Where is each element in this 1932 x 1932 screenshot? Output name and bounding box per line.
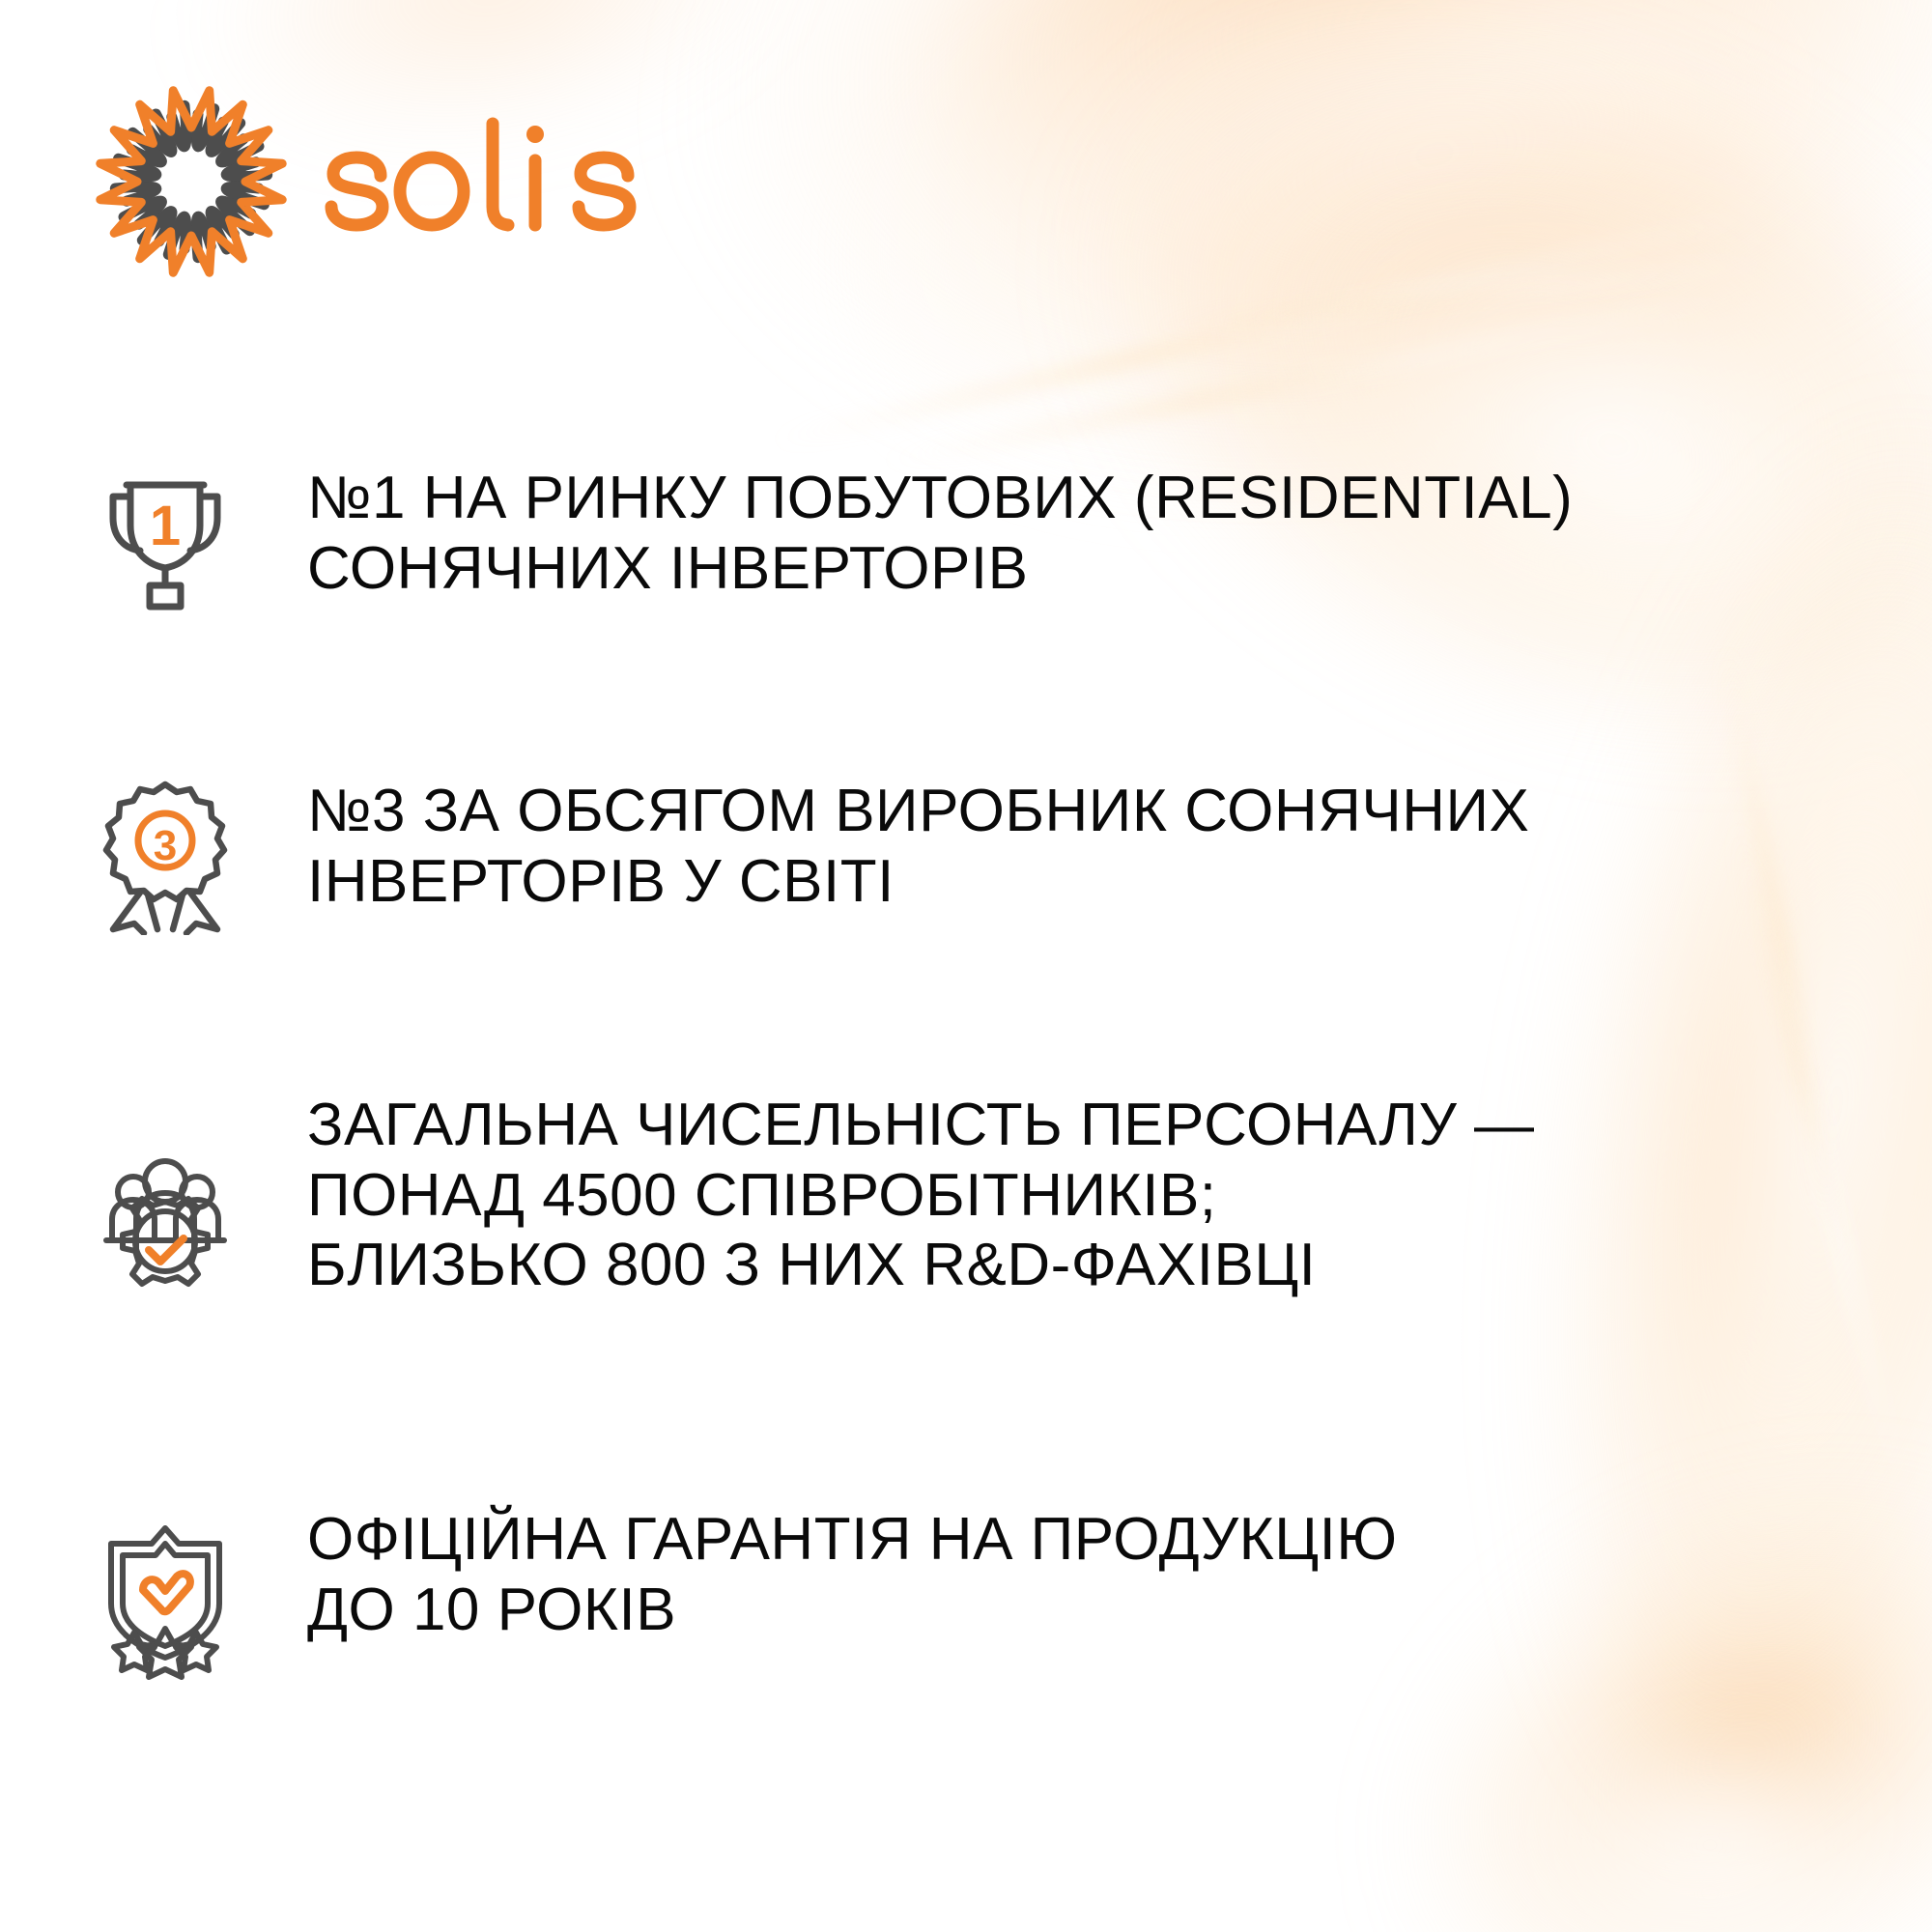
award-ribbon-icon: 3 [93,777,238,936]
brand-wordmark [321,112,639,257]
feature-item: 3 №3 ЗА ОБСЯГОМ ВИРОБНИК СОНЯЧНИХ ІНВЕРТ… [0,777,1932,936]
feature-text-line: ДО 10 РОКІВ [307,1576,1398,1646]
team-gear-icon [93,1147,238,1316]
feature-item: ЗАГАЛЬНА ЧИСЕЛЬНІСТЬ ПЕРСОНАЛУ — ПОНАД 4… [0,1091,1932,1316]
swirl-streak [766,199,1804,447]
feature-text: №1 НА РИНКУ ПОБУТОВИХ (RESIDENTIAL) СОНЯ… [307,464,1573,604]
sun-burst-logo-icon [85,75,298,288]
swirl-streak [1142,254,1815,331]
swirl-highlight [1507,1700,1913,1932]
slide-root: 1 №1 НА РИНКУ ПОБУТОВИХ (RESIDENTIAL) СО… [0,0,1932,1932]
feature-list: 1 №1 НА РИНКУ ПОБУТОВИХ (RESIDENTIAL) СО… [0,464,1932,1683]
feature-text-line: БЛИЗЬКО 800 З НИХ R&D-ФАХІВЦІ [307,1231,1535,1301]
brand-logo [85,75,639,288]
feature-text-line: ПОНАД 4500 СПІВРОБІТНИКІВ; [307,1161,1535,1232]
swirl-streak [877,284,1779,467]
feature-text-line: ЗАГАЛЬНА ЧИСЕЛЬНІСТЬ ПЕРСОНАЛУ — [307,1091,1535,1161]
feature-item: 1 №1 НА РИНКУ ПОБУТОВИХ (RESIDENTIAL) СО… [0,464,1932,614]
trophy-icon: 1 [93,469,238,614]
feature-text: ЗАГАЛЬНА ЧИСЕЛЬНІСТЬ ПЕРСОНАЛУ — ПОНАД 4… [307,1091,1535,1301]
feature-text-line: СОНЯЧНИХ ІНВЕРТОРІВ [307,534,1573,605]
feature-text: ОФІЦІЙНА ГАРАНТІЯ НА ПРОДУКЦІЮ ДО 10 РОК… [307,1505,1398,1645]
svg-text:1: 1 [150,495,181,557]
svg-text:3: 3 [154,822,177,869]
feature-text-line: №1 НА РИНКУ ПОБУТОВИХ (RESIDENTIAL) [307,464,1573,534]
feature-text-line: ІНВЕРТОРІВ У СВІТІ [307,847,1529,918]
shield-stars-icon [93,1519,238,1683]
feature-text: №3 ЗА ОБСЯГОМ ВИРОБНИК СОНЯЧНИХ ІНВЕРТОР… [307,777,1529,917]
feature-text-line: ОФІЦІЙНА ГАРАНТІЯ НА ПРОДУКЦІЮ [307,1505,1398,1576]
feature-item: ОФІЦІЙНА ГАРАНТІЯ НА ПРОДУКЦІЮ ДО 10 РОК… [0,1505,1932,1683]
feature-text-line: №3 ЗА ОБСЯГОМ ВИРОБНИК СОНЯЧНИХ [307,777,1529,847]
